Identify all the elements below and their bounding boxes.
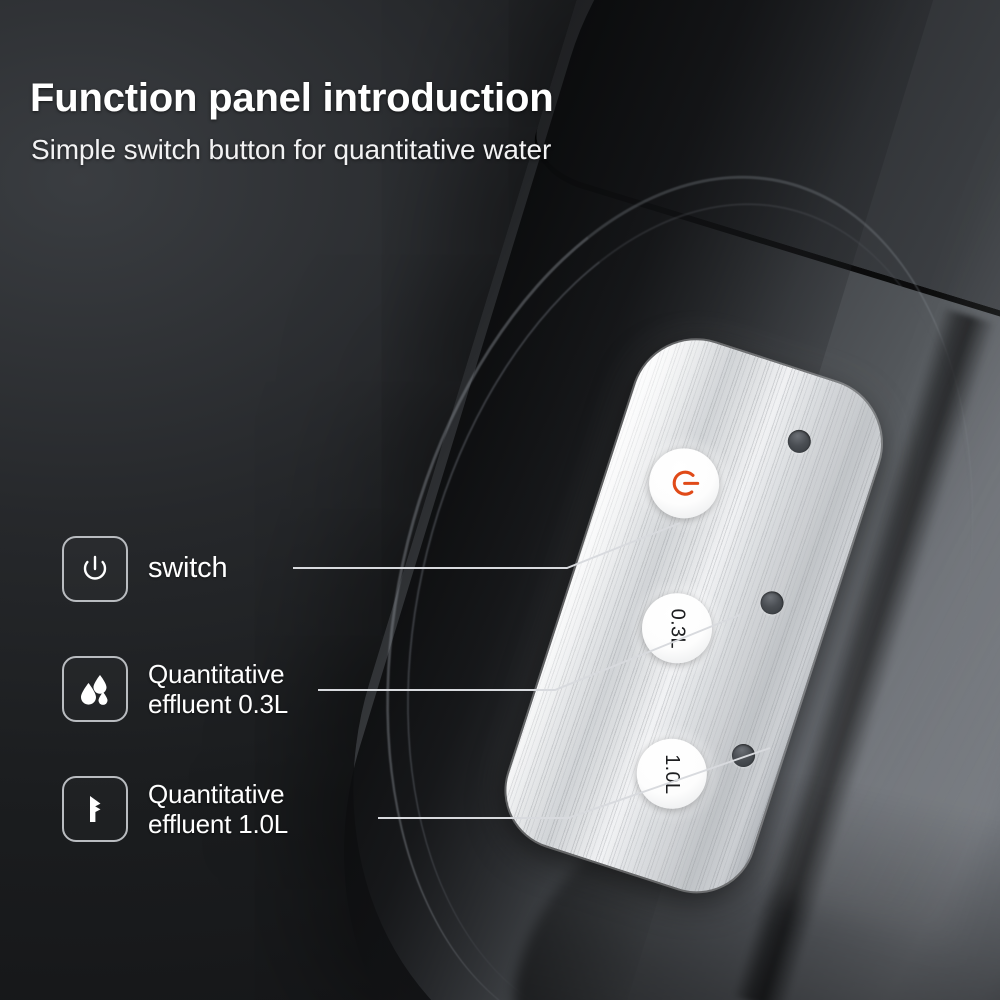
page-subtitle: Simple switch button for quantitative wa… xyxy=(31,134,551,166)
pour-spout-icon xyxy=(62,776,128,842)
led-indicator-2 xyxy=(758,588,787,617)
pour-spout-glyph-icon xyxy=(77,791,113,827)
dose-button-10[interactable]: 1.0L xyxy=(628,730,716,818)
power-symbol-icon xyxy=(664,463,704,503)
power-icon xyxy=(62,536,128,602)
power-button[interactable] xyxy=(640,439,728,527)
product-infographic: 0.3L 1.0L Function panel introduction Si… xyxy=(0,0,1000,1000)
dose-button-10-label: 1.0L xyxy=(660,754,683,794)
led-indicator-3 xyxy=(729,741,758,770)
legend-label-03l: Quantitative effluent 0.3L xyxy=(148,659,288,719)
legend-label-switch: switch xyxy=(148,552,227,586)
legend-label-10l: Quantitative effluent 1.0L xyxy=(148,779,288,839)
power-glyph-icon xyxy=(77,551,113,587)
droplets-icon xyxy=(62,656,128,722)
legend-item-switch[interactable]: switch xyxy=(62,536,227,602)
dose-button-03[interactable]: 0.3L xyxy=(633,584,721,672)
led-indicator-1 xyxy=(785,427,814,456)
page-title: Function panel introduction xyxy=(30,76,553,121)
water-droplets-glyph-icon xyxy=(75,669,115,709)
dose-button-03-label: 0.3L xyxy=(666,608,689,648)
legend-item-10l[interactable]: Quantitative effluent 1.0L xyxy=(62,776,288,842)
legend-item-03l[interactable]: Quantitative effluent 0.3L xyxy=(62,656,288,722)
